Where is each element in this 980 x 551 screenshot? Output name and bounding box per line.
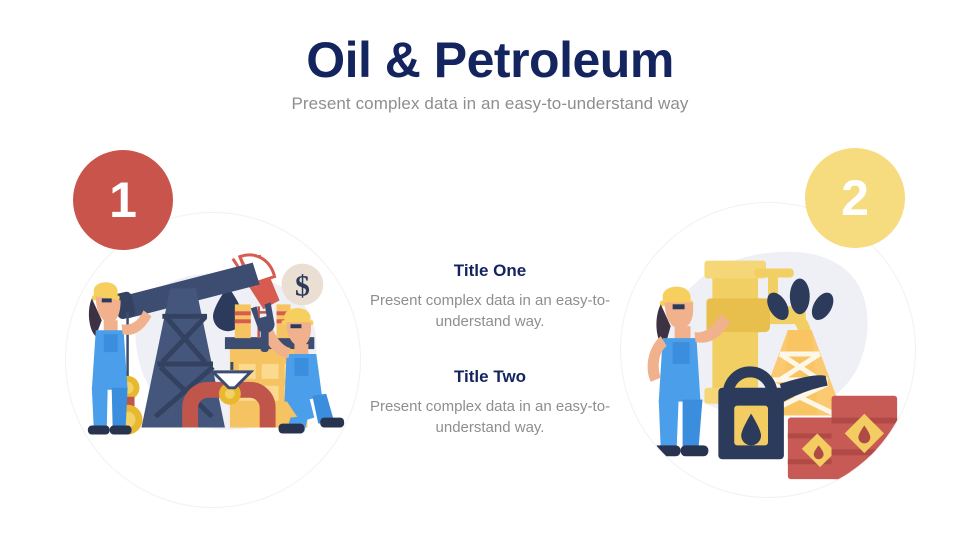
block-one-body: Present complex data in an easy-to-under…	[365, 290, 615, 333]
block-two-title: Title Two	[365, 367, 615, 387]
text-block-two: Title Two Present complex data in an eas…	[365, 367, 615, 439]
page-subtitle: Present complex data in an easy-to-under…	[0, 94, 980, 114]
badge-2-label: 2	[841, 173, 869, 223]
text-block-one: Title One Present complex data in an eas…	[365, 261, 615, 333]
badge-1-label: 1	[109, 175, 137, 225]
block-one-title: Title One	[365, 261, 615, 281]
badge-number-1[interactable]: 1	[73, 150, 173, 250]
badge-number-2[interactable]: 2	[805, 148, 905, 248]
illustration-circle-left: $	[65, 212, 361, 508]
slide-root: Oil & Petroleum Present complex data in …	[0, 0, 980, 551]
illustration-circle-right	[620, 202, 916, 498]
slide-header: Oil & Petroleum Present complex data in …	[0, 34, 980, 114]
block-two-body: Present complex data in an easy-to-under…	[365, 396, 615, 439]
svg-text:$: $	[295, 269, 310, 302]
oil-pump-jack-illustration: $	[66, 213, 360, 507]
page-title: Oil & Petroleum	[0, 34, 980, 87]
oil-derrick-barrels-illustration	[621, 203, 915, 497]
